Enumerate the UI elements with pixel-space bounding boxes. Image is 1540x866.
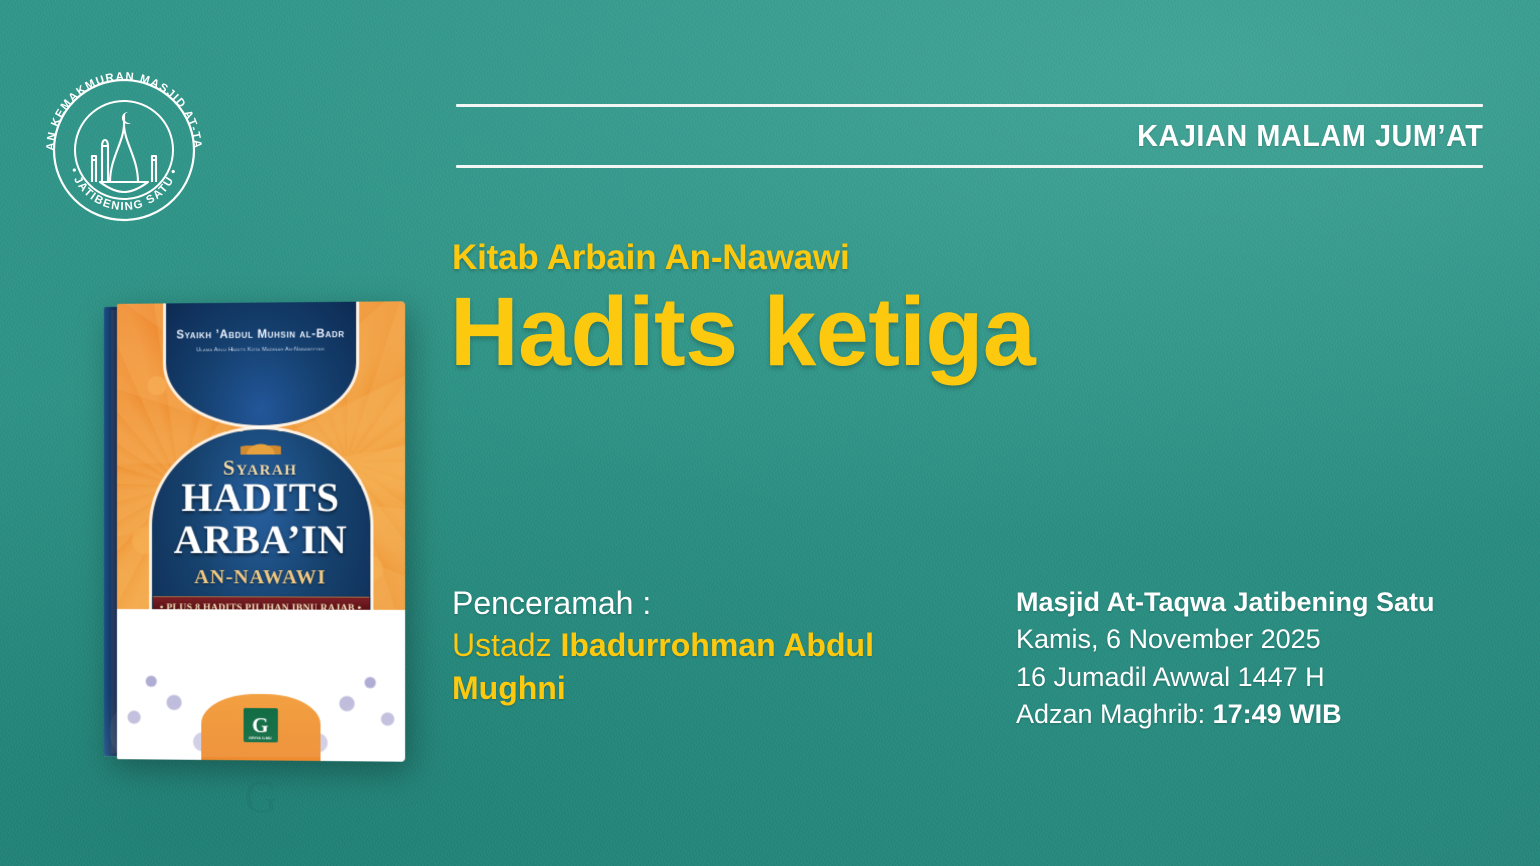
venue-date-hijri: 16 Jumadil Awwal 1447 H xyxy=(1016,659,1516,696)
book-title-hadits: HADITS xyxy=(117,477,405,518)
cover-arch-top xyxy=(166,301,356,425)
speaker-name: Ustadz Ibadurrohman Abdul Mughni xyxy=(452,624,932,709)
publisher-mark: G xyxy=(252,713,269,738)
book-title-annawawi: AN-NAWAWI xyxy=(117,566,405,590)
book-title-arbain: ARBA’IN xyxy=(117,520,405,561)
logo-top-arc-text: DEWAN KEMAKMURAN MASJID AT-TAQWA xyxy=(26,63,203,151)
venue-maghrib: Adzan Maghrib: 17:49 WIB xyxy=(1016,696,1516,733)
maghrib-time: 17:49 WIB xyxy=(1213,699,1342,729)
header-band: KAJIAN MALAM JUM’AT xyxy=(456,104,1483,168)
page-title: Hadits ketiga xyxy=(450,283,1035,380)
header-rule-top xyxy=(456,104,1483,107)
publisher-logo: GGRIYA ILMU xyxy=(243,708,277,742)
dkm-logo: DEWAN KEMAKMURAN MASJID AT-TAQWA • JATIB… xyxy=(32,72,217,212)
cover-ornament-icon xyxy=(240,439,280,454)
book-3d: Syaikh ’Abdul Muhsin al-Badr Ulama Ahlu … xyxy=(104,301,405,761)
book-front-cover: Syaikh ’Abdul Muhsin al-Badr Ulama Ahlu … xyxy=(117,301,405,761)
kajian-label: KAJIAN MALAM JUM’AT xyxy=(1137,118,1483,154)
venue-block: Masjid At-Taqwa Jatibening Satu Kamis, 6… xyxy=(1016,584,1516,733)
book-image: Syaikh ’Abdul Muhsin al-Badr Ulama Ahlu … xyxy=(96,300,416,850)
venue-place: Masjid At-Taqwa Jatibening Satu xyxy=(1016,584,1516,621)
logo-bottom-arc-text: • JATIBENING SATU • xyxy=(67,167,181,214)
book-author: Syaikh ’Abdul Muhsin al-Badr xyxy=(117,328,405,342)
header-rule-bottom xyxy=(456,165,1483,168)
maghrib-label: Adzan Maghrib: xyxy=(1016,699,1213,729)
title-kicker: Kitab Arbain An-Nawawi xyxy=(452,238,850,278)
speaker-prefix: Ustadz xyxy=(452,627,560,663)
speaker-label: Penceramah : xyxy=(452,582,932,624)
speaker-block: Penceramah : Ustadz Ibadurrohman Abdul M… xyxy=(452,582,932,709)
poster-canvas: DEWAN KEMAKMURAN MASJID AT-TAQWA • JATIB… xyxy=(0,0,1540,866)
publisher-name: GRIYA ILMU xyxy=(243,736,277,740)
venue-date-gregorian: Kamis, 6 November 2025 xyxy=(1016,621,1516,658)
